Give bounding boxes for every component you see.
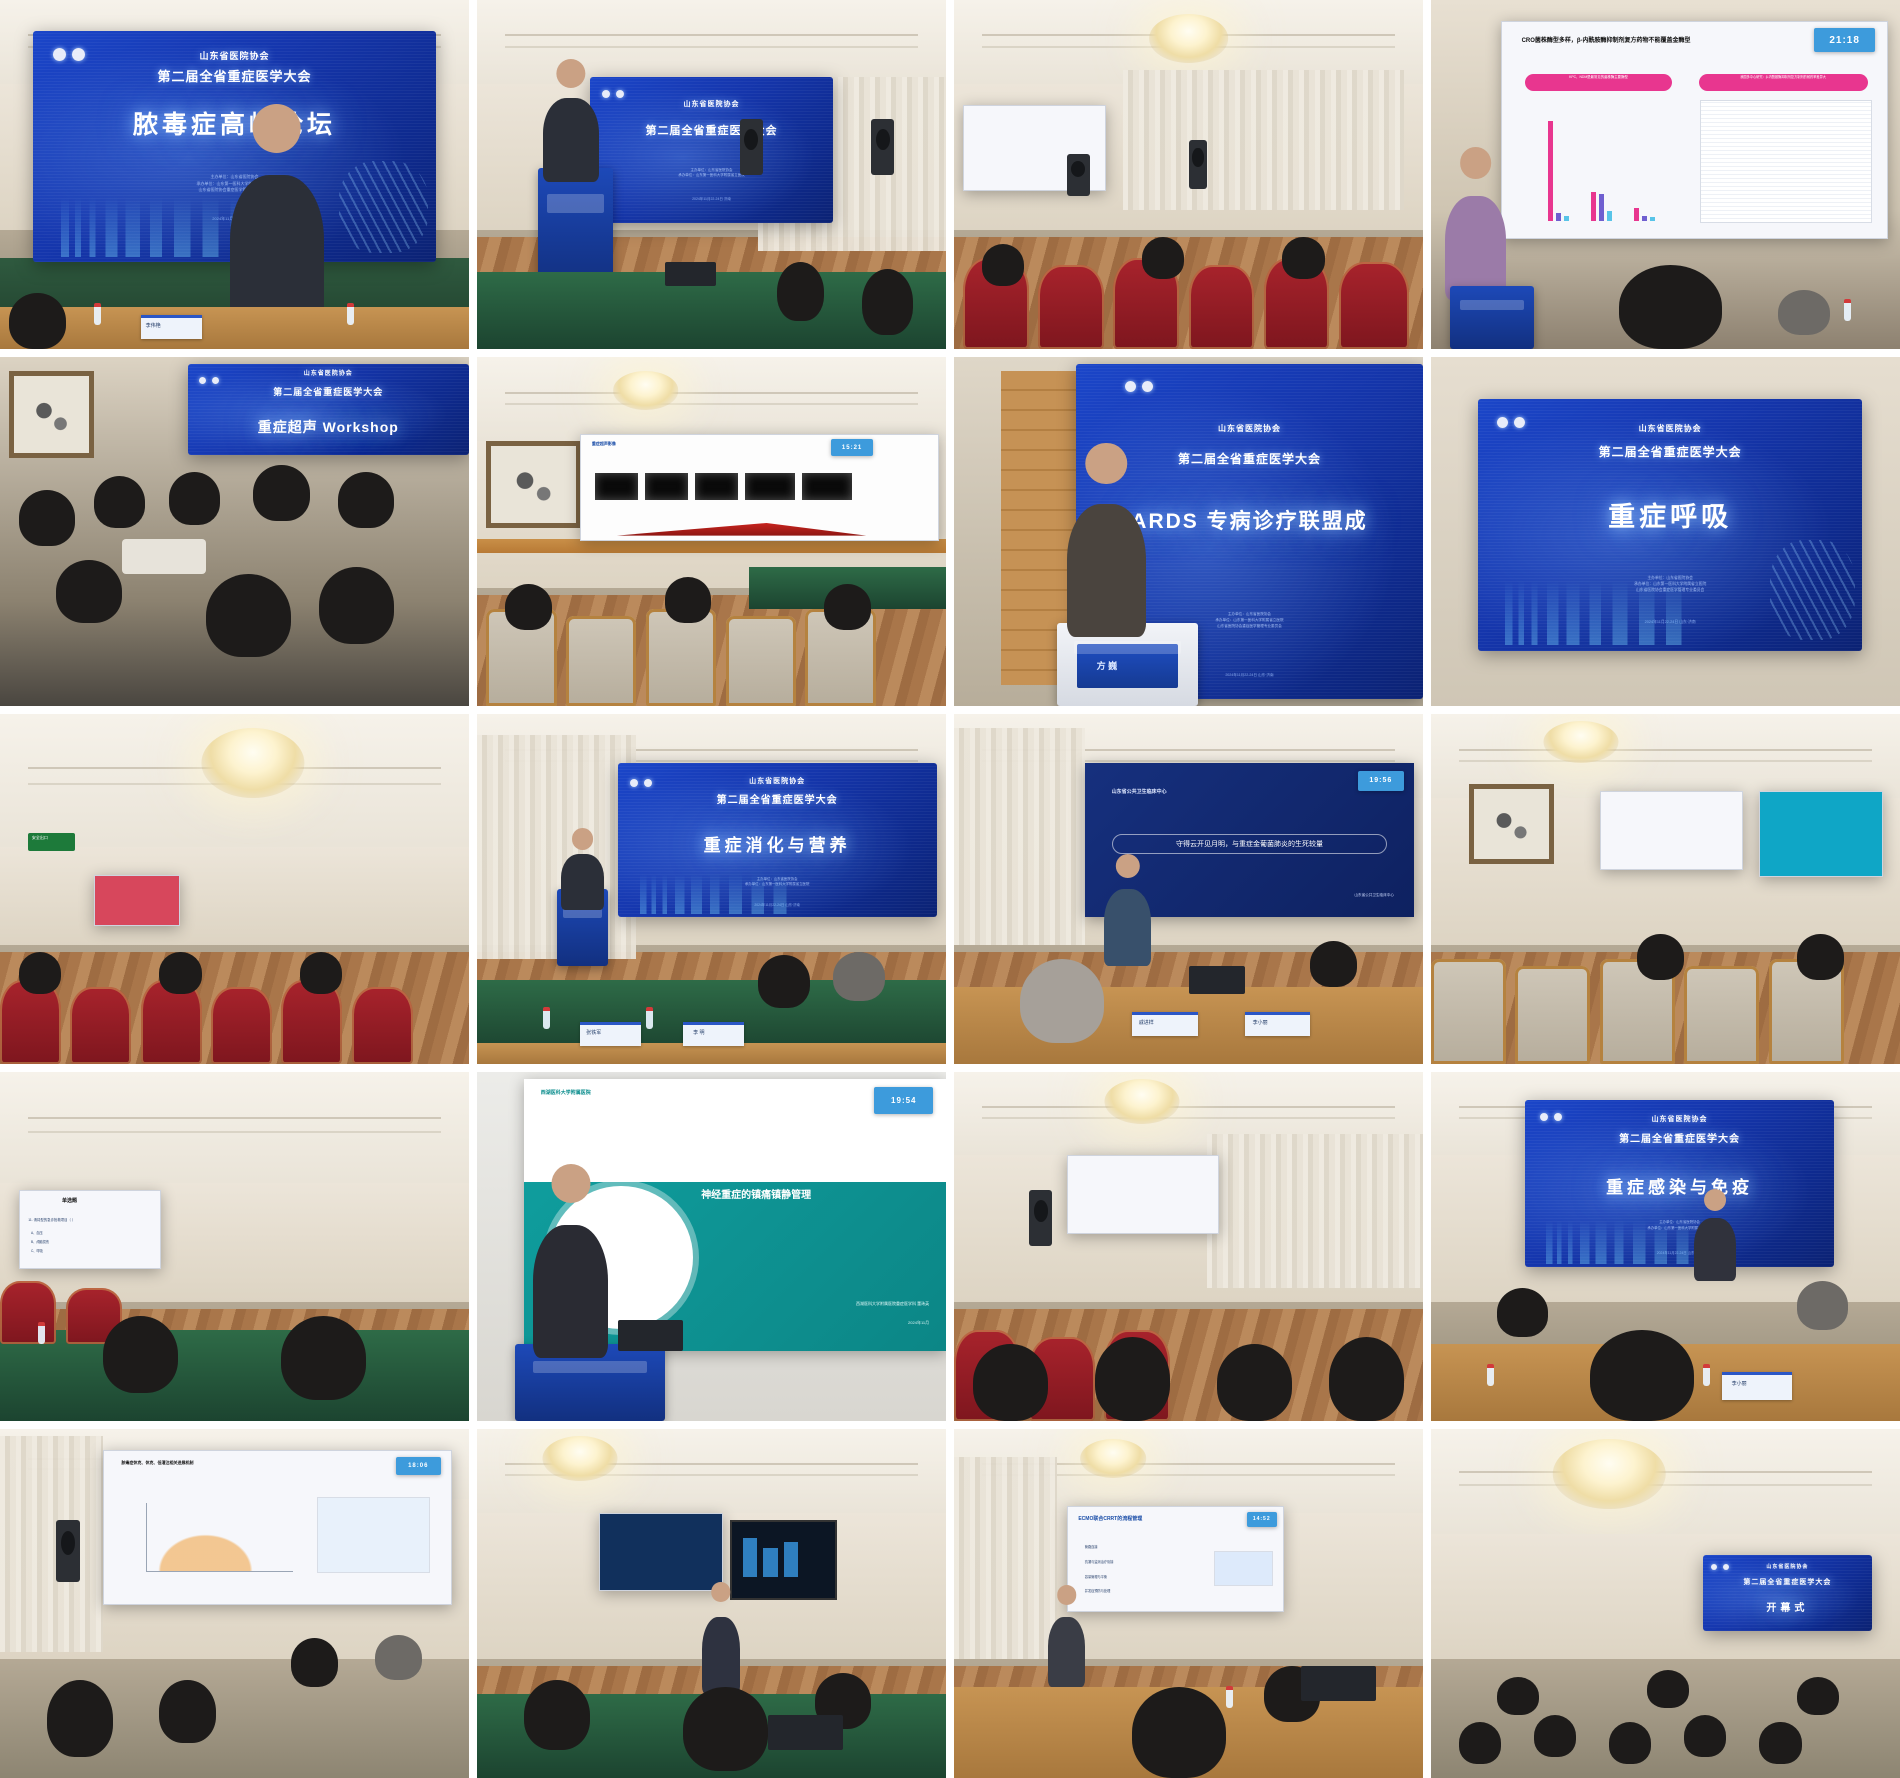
audience-head — [833, 952, 885, 1001]
audience-head — [758, 955, 810, 1007]
slide-title: 重症超声影像 — [592, 441, 920, 447]
xray-image — [802, 473, 852, 500]
laptop — [618, 1320, 684, 1351]
curtain — [1207, 1134, 1423, 1288]
photo-tile-15[interactable] — [954, 1072, 1423, 1421]
time-badge: 18:06 — [396, 1457, 441, 1475]
chandelier — [613, 371, 679, 409]
loudspeaker — [1029, 1190, 1052, 1246]
audience-head — [524, 1680, 590, 1750]
loudspeaker — [871, 119, 894, 175]
audience-head — [862, 269, 914, 335]
screen-main-title: 重症消化与营养 — [618, 831, 937, 856]
audience-head — [1609, 1722, 1651, 1764]
slide-quote: 守得云开见月明，与重症金葡菌肺炎的生死较量 — [1112, 834, 1388, 854]
water-bottle — [1703, 1364, 1710, 1386]
ultrasound-manikin — [122, 539, 206, 574]
audience-head — [982, 244, 1024, 286]
slide-presenter: 山东省公共卫生临床中心 — [1354, 893, 1394, 898]
chair — [70, 987, 131, 1064]
time-badge: 19:56 — [1358, 771, 1404, 791]
podium-name: 方 巍 — [1097, 659, 1118, 672]
water-bottle — [38, 1322, 45, 1344]
loudspeaker — [740, 119, 763, 175]
presenter-line: 西湖医科大学附属医院重症医学科 董玮英 — [856, 1301, 929, 1307]
panel-member-head — [375, 1635, 422, 1680]
screen-main-title: 脓毒症高峰论坛 — [33, 105, 436, 141]
hospital-name: 西湖医科大学附属医院 — [541, 1089, 591, 1096]
city-skyline-graphic — [1543, 1220, 1698, 1264]
audience-head — [973, 1344, 1048, 1421]
audience-head — [1619, 265, 1722, 349]
audience-head — [505, 584, 552, 629]
photo-tile-7[interactable]: 山东省医院协会 第二届全省重症医学大会 ARDS 专病诊疗联盟成 主办单位：山东… — [954, 357, 1423, 706]
chair — [0, 1281, 56, 1344]
screen-org-line2: 第二届全省重症医学大会 — [1076, 451, 1423, 467]
slide-title: 单选题 — [62, 1197, 153, 1204]
audience-head — [159, 1680, 215, 1743]
photo-tile-16[interactable]: 山东省医院协会 第二届全省重症医学大会 重症感染与免疫 主办单位：山东省医院协会… — [1431, 1072, 1900, 1421]
front-table — [0, 307, 469, 349]
ceiling — [1431, 1429, 1900, 1541]
audience-head — [1797, 1677, 1839, 1715]
loudspeaker — [56, 1520, 79, 1583]
screen-org-line2: 第二届全省重症医学大会 — [188, 386, 469, 398]
speaker-silhouette — [1067, 504, 1147, 637]
panel-member-head — [1497, 1288, 1549, 1337]
framed-artwork — [9, 371, 94, 458]
photo-tile-20[interactable]: 山东省医院协会 第二届全省重症医学大会 开幕式 — [1431, 1429, 1900, 1778]
slide-org: 山东省公共卫生临床中心 — [1112, 788, 1167, 795]
audience-head — [777, 262, 824, 321]
loudspeaker — [1189, 140, 1208, 189]
stage-led-screen: 山东省医院协会 第二届全省重症医学大会 重症超声 Workshop — [188, 364, 469, 455]
chair — [646, 609, 716, 707]
quiz-option-a: A、血压 — [31, 1230, 43, 1235]
wall — [0, 847, 469, 945]
photo-collage: 山东省医院协会 第二届全省重症医学大会 脓毒症高峰论坛 主办单位：山东省医院协会… — [0, 0, 1900, 1778]
speaker-silhouette — [543, 98, 599, 182]
stage-led-screen: 山东省医院协会 第二届全省重症医学大会 重症消化与营养 主办单位：山东省医院协会… — [618, 763, 937, 917]
attendee-head — [56, 560, 122, 623]
chair — [1189, 265, 1255, 349]
curtain — [1123, 70, 1404, 210]
water-bottle — [646, 1007, 653, 1029]
audience-head — [159, 952, 201, 994]
curtain — [954, 1457, 1057, 1660]
name-card: 李小丽 — [1722, 1372, 1792, 1399]
photo-tile-18[interactable] — [477, 1429, 946, 1778]
projection-screen — [94, 875, 180, 926]
chair — [726, 616, 796, 707]
chair — [211, 987, 272, 1064]
speaker-silhouette — [1104, 889, 1151, 966]
time-badge: 14:52 — [1247, 1512, 1277, 1527]
name-card: 李 明 — [683, 1022, 744, 1046]
exit-sign: 安全出口 — [28, 833, 75, 850]
loudspeaker — [1067, 154, 1090, 196]
slide-bullet-2: 抗凝与监测治疗衔接 — [1085, 1559, 1114, 1564]
chair — [1339, 262, 1409, 349]
secondary-monitor — [730, 1520, 837, 1601]
audience-head — [1310, 941, 1357, 986]
speaker-silhouette — [1445, 196, 1506, 301]
xray-image — [695, 473, 738, 500]
speaker-head — [1704, 1189, 1726, 1211]
city-skyline-graphic — [1501, 580, 1693, 645]
audience-head — [1020, 959, 1104, 1043]
screen-org-line1: 山东省医院协会 — [1525, 1115, 1835, 1124]
ceiling — [477, 1429, 946, 1520]
stage-led-screen: 山东省医院协会 第二届全省重症医学大会 重症感染与免疫 主办单位：山东省医院协会… — [1525, 1100, 1835, 1268]
screen-org-line1: 山东省医院协会 — [1703, 1564, 1872, 1571]
chair — [1684, 966, 1759, 1064]
water-bottle — [543, 1007, 550, 1029]
chair — [1038, 265, 1104, 349]
curve-chart — [146, 1503, 293, 1572]
chair — [1431, 959, 1506, 1064]
framed-artwork — [486, 441, 580, 528]
projection-screen — [1600, 791, 1743, 870]
projection-screen: 15:21 重症超声影像 — [580, 434, 938, 541]
screen-org-line2: 第二届全省重症医学大会 — [1478, 444, 1863, 460]
panel-member-head — [291, 1638, 338, 1687]
screen-org-line1: 山东省医院协会 — [33, 50, 436, 62]
speaker-head — [572, 828, 594, 850]
laptop — [768, 1715, 843, 1750]
chandelier — [1104, 1079, 1179, 1124]
audience-head — [103, 1316, 178, 1393]
slide-title: 神经重症的镇痛镇静管理 — [701, 1188, 929, 1203]
photo-tile-17[interactable]: 脓毒症休克、休克、低灌注相关进展机制 18:06 — [0, 1429, 469, 1778]
audience-head — [1217, 1344, 1292, 1421]
attendee-head — [253, 465, 309, 521]
projection-screen: CRO菌株酶型多样，β-内酰胺酶抑制剂复方药物不能覆盖金酶型 21:18 KPC… — [1501, 21, 1888, 239]
chandelier — [1553, 1439, 1666, 1509]
slide-title: ECMO联合CRRT的流程管理 — [1078, 1515, 1272, 1522]
audience-head — [1459, 1722, 1501, 1764]
audience-head — [824, 584, 871, 629]
photo-tile-14[interactable]: 西湖医科大学附属医院 19:54 神经重症的镇痛镇静管理 西湖医科大学附属医院重… — [477, 1072, 946, 1421]
water-bottle — [1226, 1686, 1233, 1708]
xray-image — [595, 473, 638, 500]
attendee-head — [338, 472, 394, 528]
slide-bullet-4: 并发症预防与处理 — [1085, 1588, 1111, 1593]
photo-tile-8[interactable]: 山东省医院协会 第二届全省重症医学大会 重症呼吸 主办单位：山东省医院协会 承办… — [1431, 357, 1900, 706]
dna-helix-graphic — [1770, 540, 1855, 641]
audience-head — [1684, 1715, 1726, 1757]
water-bottle — [347, 303, 354, 325]
screen-org-line2: 第二届全省重症医学大会 — [33, 68, 436, 86]
audience-head — [19, 952, 61, 994]
name-card: 李伟艳 — [141, 315, 202, 339]
slide-date: 2024年11月 — [908, 1320, 929, 1326]
speaker-silhouette — [230, 175, 324, 329]
name-card: 张铁军 — [580, 1022, 641, 1046]
data-table — [1700, 100, 1871, 223]
framed-artwork — [1469, 784, 1554, 864]
audience-head — [1778, 290, 1830, 335]
chair — [352, 987, 413, 1064]
water-bottle — [1844, 299, 1851, 321]
photo-tile-3[interactable] — [954, 0, 1423, 349]
panel-member-head — [1797, 1281, 1849, 1330]
podium-panel — [1077, 644, 1178, 688]
curtain — [0, 1436, 103, 1653]
attendee-head — [19, 490, 75, 546]
audience-head — [1534, 1715, 1576, 1757]
screen-org-line2: 第二届全省重症医学大会 — [618, 794, 937, 808]
audience-head — [1759, 1722, 1801, 1764]
speaker-head — [551, 1164, 590, 1203]
photo-tile-9[interactable]: 安全出口 — [0, 714, 469, 1063]
dna-helix-graphic — [339, 161, 428, 253]
photo-tile-12[interactable] — [1431, 714, 1900, 1063]
slide-note-box — [1214, 1551, 1272, 1587]
speaker-silhouette — [702, 1617, 740, 1694]
audience-head — [281, 1316, 365, 1400]
chandelier — [1149, 14, 1229, 63]
screen-org-line2: 第二届全省重症医学大会 — [1703, 1578, 1872, 1587]
photo-tile-13[interactable]: 单选题 11. 请将型的急诊抢救项目（ ） A、血压 B、颅脑损伤 C、呼吸 — [0, 1072, 469, 1421]
laptop — [1189, 966, 1245, 994]
projection-screen — [1067, 1155, 1219, 1234]
projection-screen: 单选题 11. 请将型的急诊抢救项目（ ） A、血压 B、颅脑损伤 C、呼吸 — [19, 1190, 162, 1269]
screen-main-title: 重症超声 Workshop — [188, 417, 469, 437]
curtain — [954, 728, 1085, 945]
projection-screen — [599, 1513, 723, 1592]
quiz-question: 11. 请将型的急诊抢救项目（ ） — [28, 1217, 75, 1222]
wall-molding — [477, 539, 946, 553]
speaker-silhouette — [1048, 1617, 1086, 1687]
audience-head — [47, 1680, 113, 1757]
audience-head — [1497, 1677, 1539, 1715]
screen-org-line1: 山东省医院协会 — [188, 370, 469, 378]
chair — [566, 616, 636, 707]
audience-head — [1647, 1670, 1689, 1708]
chair — [1515, 966, 1590, 1064]
slide-bullet-1: 管路连接 — [1085, 1544, 1098, 1549]
city-skyline-graphic — [57, 197, 259, 257]
red-banner-graphic — [617, 523, 867, 536]
speaker-silhouette — [533, 1225, 608, 1358]
laptop — [665, 262, 717, 286]
slide-title: 脓毒症休克、休克、低灌注相关进展机制 — [122, 1460, 434, 1466]
slide-pink-banner-right: 我国多中心研究：β-内酰胺酶抑制剂复方制剂的耐药率差异大 — [1699, 74, 1868, 91]
screen-subtitle: 主办单位：山东省医院协会 承办单位：山东第一医科大学附属省立医院 — [590, 168, 834, 179]
audience-head — [1797, 934, 1844, 979]
water-bottle — [1487, 1364, 1494, 1386]
stage-led-screen: 山东省医院协会 第二届全省重症医学大会 开幕式 — [1703, 1555, 1872, 1632]
audience-head — [300, 952, 342, 994]
screen-main-title: 重症呼吸 — [1478, 495, 1863, 534]
stage-led-screen: 山东省医院协会 第二届全省重症医学大会 主办单位：山东省医院协会 承办单位：山东… — [590, 77, 834, 224]
audience-head — [1637, 934, 1684, 979]
screen-org-line1: 山东省医院协会 — [1076, 424, 1423, 435]
photo-tile-11[interactable]: 19:56 山东省公共卫生临床中心 守得云开见月明，与重症金葡菌肺炎的生死较量 … — [954, 714, 1423, 1063]
quiz-option-b: B、颅脑损伤 — [31, 1239, 49, 1244]
name-card: 李小丽 — [1245, 1012, 1311, 1036]
attendee-head — [206, 574, 290, 658]
photo-tile-19[interactable]: ECMO联合CRRT的流程管理 14:52 管路连接 抗凝与监测治疗衔接 容量管… — [954, 1429, 1423, 1778]
audience-head — [9, 293, 65, 349]
chandelier — [543, 1436, 618, 1481]
time-badge: 19:54 — [874, 1087, 933, 1114]
diagram-panel — [317, 1497, 430, 1573]
laptop — [1301, 1666, 1376, 1701]
podium — [538, 168, 613, 287]
projection-screen: 脓毒症休克、休克、低灌注相关进展机制 18:06 — [103, 1450, 452, 1606]
attendee-head — [94, 476, 146, 528]
screen-org-line1: 山东省医院协会 — [618, 777, 937, 786]
photo-tile-10[interactable]: 山东省医院协会 第二届全省重症医学大会 重症消化与营养 主办单位：山东省医院协会… — [477, 714, 946, 1063]
slide-pink-banner-left: KPC、NDM是最常见的菌株酶主要酶型 — [1525, 74, 1671, 91]
screen-org-line2: 第二届全省重症医学大会 — [590, 124, 834, 139]
projection-screen: ECMO联合CRRT的流程管理 14:52 管路连接 抗凝与监测治疗衔接 容量管… — [1067, 1506, 1285, 1613]
xray-image — [745, 473, 795, 500]
xray-image — [645, 473, 688, 500]
speaker-head — [1460, 147, 1492, 179]
photo-tile-6[interactable]: 15:21 重症超声影像 — [477, 357, 946, 706]
audience-head — [1142, 237, 1184, 279]
screen-org-line2: 第二届全省重症医学大会 — [1525, 1133, 1835, 1147]
audience-head — [1590, 1330, 1693, 1421]
audience-head — [1282, 237, 1324, 279]
city-skyline-graphic — [637, 874, 796, 914]
attendee-head — [319, 567, 394, 644]
stage-led-screen: 山东省医院协会 第二届全省重症医学大会 重症呼吸 主办单位：山东省医院协会 承办… — [1478, 399, 1863, 650]
audience-head — [1132, 1687, 1226, 1778]
audience-head — [665, 577, 712, 622]
speaker-head — [1057, 1585, 1077, 1605]
time-badge: 21:18 — [1814, 28, 1876, 52]
bar-chart — [1548, 117, 1655, 221]
photo-tile-4[interactable]: CRO菌株酶型多样，β-内酰胺酶抑制剂复方药物不能覆盖金酶型 21:18 KPC… — [1431, 0, 1900, 349]
audience-head — [683, 1687, 767, 1771]
speaker-silhouette — [561, 854, 603, 910]
attendee-head — [169, 472, 221, 524]
name-card: 戚进样 — [1132, 1012, 1198, 1036]
quiz-option-c: C、呼吸 — [31, 1248, 43, 1253]
photo-tile-5[interactable]: 山东省医院协会 第二届全省重症医学大会 重症超声 Workshop — [0, 357, 469, 706]
audience-head — [1095, 1337, 1170, 1421]
secondary-screen — [1759, 791, 1883, 877]
chandelier — [1544, 721, 1619, 763]
water-bottle — [94, 303, 101, 325]
screen-main-title: 重症感染与免疫 — [1525, 1173, 1835, 1198]
chandelier — [1081, 1439, 1147, 1477]
slide-bullet-3: 容量管理与平衡 — [1085, 1574, 1107, 1579]
screen-date: 2024年11月22-24日 济南 — [590, 197, 834, 202]
audience-head — [1329, 1337, 1404, 1421]
chandelier — [202, 728, 305, 798]
podium — [1450, 286, 1534, 349]
screen-main-title: 开幕式 — [1703, 1599, 1872, 1614]
speaker-silhouette — [1694, 1218, 1736, 1281]
speaker-head — [252, 104, 301, 153]
photo-tile-2[interactable]: 山东省医院协会 第二届全省重症医学大会 主办单位：山东省医院协会 承办单位：山东… — [477, 0, 946, 349]
screen-org-line1: 山东省医院协会 — [1478, 424, 1863, 435]
speaker-head — [711, 1582, 731, 1602]
screen-org-line1: 山东省医院协会 — [590, 100, 834, 109]
photo-tile-1[interactable]: 山东省医院协会 第二届全省重症医学大会 脓毒症高峰论坛 主办单位：山东省医院协会… — [0, 0, 469, 349]
ceiling — [0, 1072, 469, 1191]
